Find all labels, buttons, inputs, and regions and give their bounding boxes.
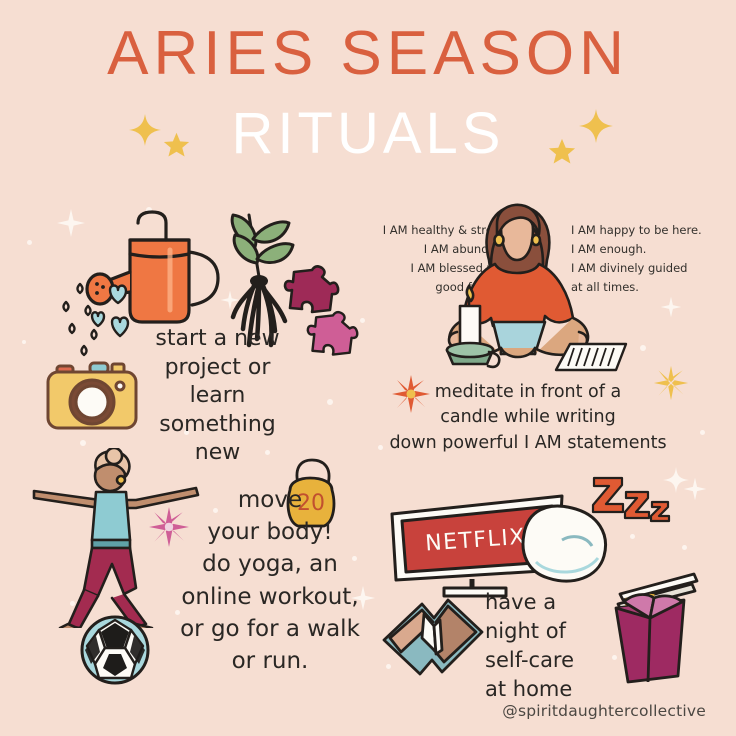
paper-icon — [550, 338, 630, 378]
ritual-text-self-care: have a night of self-care at home — [485, 588, 613, 704]
takeout-noodles-icon — [598, 556, 708, 686]
sparkle-dot — [360, 318, 365, 323]
sparkle-dot — [80, 440, 86, 446]
sparkle-dot — [682, 545, 687, 550]
puzzle-piece-icon — [305, 308, 359, 362]
ritual-text-new-project: start a new project or learn something n… — [130, 325, 305, 468]
page-title: ARIES SEASON — [0, 18, 736, 89]
sparkle-dot — [630, 534, 635, 539]
sparkle-star-icon — [660, 296, 682, 318]
sparkle-dot — [700, 430, 705, 435]
ritual-text-meditate: meditate in front of a candle while writ… — [378, 380, 678, 456]
page-subtitle: RITUALS — [0, 100, 736, 167]
four-point-star-icon — [578, 108, 614, 144]
candle-icon — [437, 282, 509, 372]
camera-icon — [44, 358, 144, 440]
five-point-star-icon — [548, 137, 576, 165]
open-book-icon — [378, 592, 488, 682]
four-point-star-icon — [662, 466, 690, 494]
sparkle-dot — [22, 340, 26, 344]
crescent-moon-icon — [297, 372, 359, 434]
five-point-star-icon — [163, 131, 190, 158]
four-point-star-icon — [128, 113, 162, 147]
soccer-ball-icon — [79, 614, 151, 686]
infographic-canvas: ARIES SEASON RITUALS — [0, 0, 736, 736]
sparkle-dot — [27, 240, 32, 245]
account-handle[interactable]: @spiritdaughtercollective — [502, 702, 706, 720]
sparkle-dot — [640, 345, 646, 351]
ritual-text-move-body: move your body! do yoga, an online worko… — [150, 484, 390, 677]
